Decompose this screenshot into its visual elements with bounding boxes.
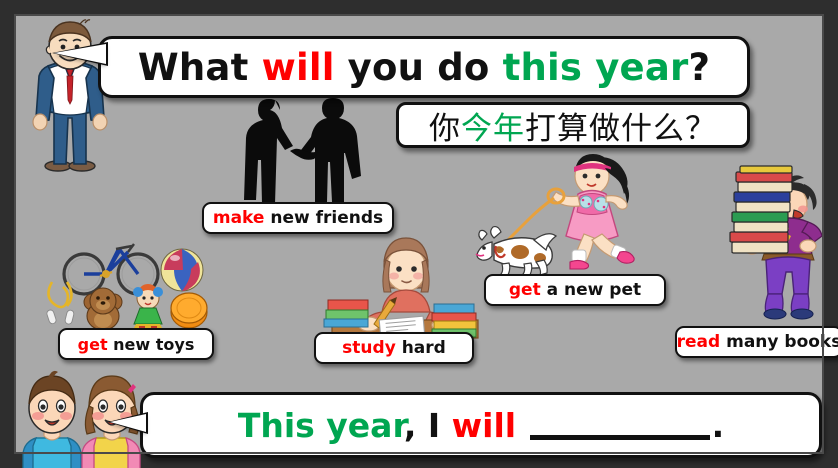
sentence-period: . <box>712 406 725 445</box>
label-get-a-new-pet: get a new pet <box>484 274 666 306</box>
label-read-many-books: read many books <box>675 326 838 358</box>
handshake-silhouette <box>236 96 368 204</box>
label-study-hard: study hard <box>314 332 474 364</box>
girl-walking-dog-illustration <box>474 154 652 276</box>
title-speech-bubble: What will you do this year? <box>98 36 750 98</box>
page-title: What will you do this year? <box>138 46 710 89</box>
teddy-bear-icon <box>84 288 122 330</box>
chinese-subtitle-bubble: 你今年打算做什么？ <box>396 102 750 148</box>
poster-stage: What will you do this year? 你今年打算做什么？ ma… <box>0 0 838 468</box>
label-verb: study <box>342 338 396 358</box>
title-bubble-tail <box>54 44 106 64</box>
toys-group-illustration <box>42 232 212 330</box>
poster-frame: What will you do this year? 你今年打算做什么？ ma… <box>0 0 838 468</box>
label-verb: make <box>213 208 265 228</box>
cn-part-2: 打算做什么？ <box>525 111 717 147</box>
boy-carrying-books-illustration <box>708 166 826 318</box>
jump-rope-icon <box>46 282 75 325</box>
sentence-frame: This year, I will . <box>238 406 724 445</box>
title-part-2: you do <box>335 46 503 89</box>
label-rest: a new pet <box>541 280 641 300</box>
chinese-subtitle: 你今年打算做什么？ <box>429 103 717 148</box>
title-part-3: this year <box>503 46 689 89</box>
sentence-part-1: , I <box>404 406 452 445</box>
cn-part-1: 今年 <box>461 111 525 147</box>
label-verb: read <box>677 332 721 352</box>
beach-ball-icon <box>161 249 203 291</box>
label-make-new-friends: make new friends <box>202 202 394 234</box>
sentence-frame-bubble: This year, I will . <box>140 392 822 458</box>
label-rest: many books <box>720 332 838 352</box>
girl-studying-illustration <box>322 226 478 338</box>
label-rest: new toys <box>108 335 195 354</box>
sentence-bubble-tail <box>110 414 146 432</box>
title-part-4: ? <box>688 46 710 89</box>
label-rest: hard <box>396 338 446 358</box>
title-part-0: What <box>138 46 262 89</box>
label-verb: get <box>78 335 108 354</box>
answer-blank[interactable] <box>530 415 710 440</box>
label-rest: new friends <box>264 208 383 228</box>
label-get-new-toys: get new toys <box>58 328 214 360</box>
label-verb: get <box>509 280 541 300</box>
cn-part-0: 你 <box>429 111 461 147</box>
sentence-part-0: This year <box>238 406 404 445</box>
sentence-part-2: will <box>452 406 516 445</box>
doll-icon <box>133 284 163 330</box>
title-part-1: will <box>262 46 335 89</box>
orange-disc-icon <box>171 293 207 328</box>
